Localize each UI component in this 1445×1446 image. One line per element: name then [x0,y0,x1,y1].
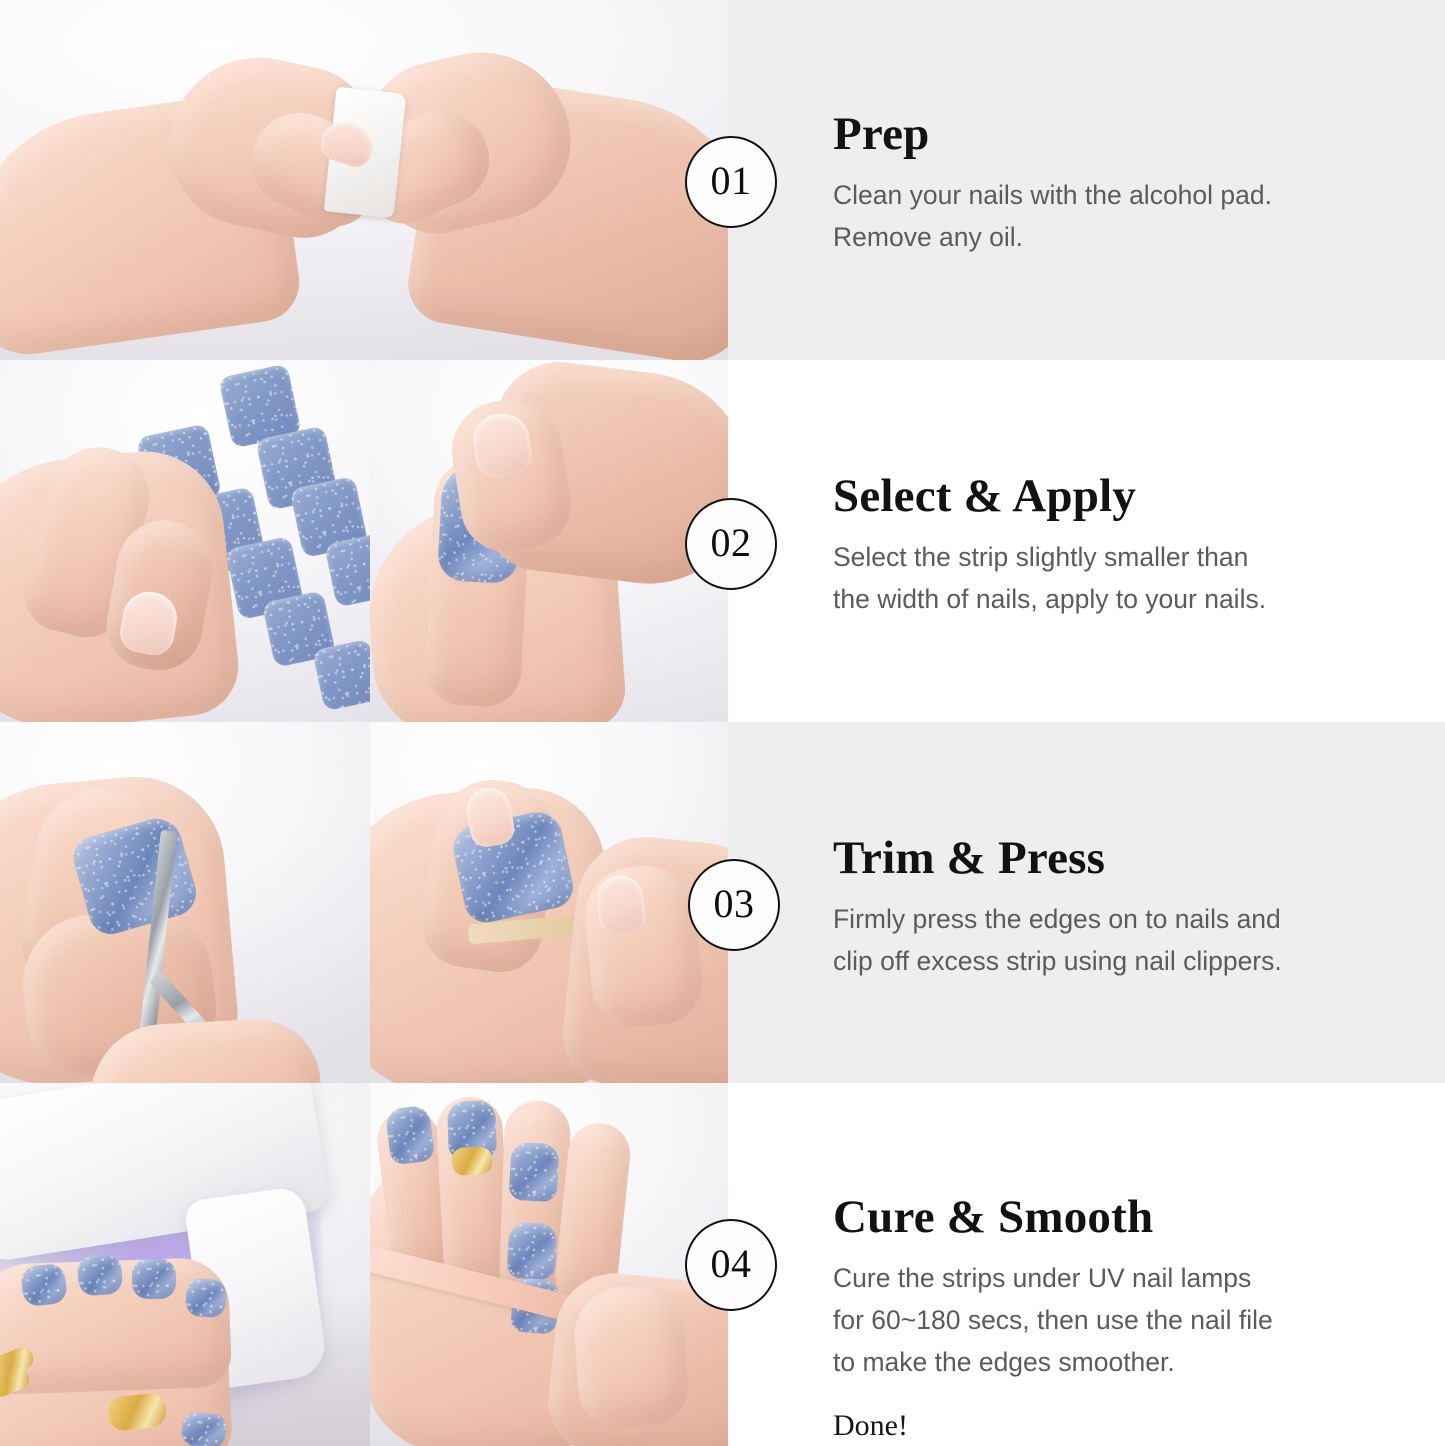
step-body-04: Cure the strips under UV nail lamps for … [833,1257,1273,1383]
step-body-02: Select the strip slightly smaller than t… [833,536,1266,620]
step-04-text: Cure & Smooth Cure the strips under UV n… [833,1193,1273,1442]
step-number-01: 01 [711,161,752,201]
step-badge-01: 01 [685,136,777,228]
photo-apply-strip [370,360,728,722]
photo-uv-lamp-curing [0,1083,370,1446]
step-number-04: 04 [711,1244,752,1284]
step-badge-02: 02 [685,498,777,590]
step-03-photo-column [0,722,728,1083]
finished-nail [507,1222,558,1280]
finished-nail [385,1105,435,1166]
cured-nail [132,1259,176,1299]
step-title-03: Trim & Press [833,834,1282,884]
step-row-02: 02 Select & Apply Select the strip sligh… [0,360,1445,722]
step-title-01: Prep [833,110,1272,160]
step-03-text: Trim & Press Firmly press the edges on t… [833,834,1282,982]
step-number-03: 03 [714,884,755,924]
step-row-03: 03 Trim & Press Firmly press the edges o… [0,722,1445,1083]
step-number-02: 02 [711,523,752,563]
step-02-text: Select & Apply Select the strip slightly… [833,472,1266,620]
step-02-text-column: 02 Select & Apply Select the strip sligh… [728,360,1445,722]
photo-prep-alcohol-pad [0,0,728,360]
step-row-01: 01 Prep Clean your nails with the alcoho… [0,0,1445,360]
step-badge-04: 04 [685,1219,777,1311]
step-badge-03: 03 [688,859,780,951]
instruction-infographic: 01 Prep Clean your nails with the alcoho… [0,0,1445,1446]
step-02-photo-column [0,360,728,722]
step-footnote-done: Done! [833,1409,1273,1442]
photo-trim-with-scissors [0,722,370,1083]
step-01-text-column: 01 Prep Clean your nails with the alcoho… [728,0,1445,360]
step-01-photo-column [0,0,728,360]
right-fingers [571,1283,690,1430]
cured-nail [77,1254,124,1297]
step-body-01: Clean your nails with the alcohol pad. R… [833,174,1272,258]
step-04-text-column: 04 Cure & Smooth Cure the strips under U… [728,1083,1445,1446]
photo-strip-sheet [0,360,370,722]
step-title-02: Select & Apply [833,472,1266,522]
step-row-04: 04 Cure & Smooth Cure the strips under U… [0,1083,1445,1446]
photo-file-smoothing [370,1083,728,1446]
finished-nail [509,1142,560,1202]
photo-press-with-stick [370,722,728,1083]
step-03-text-column: 03 Trim & Press Firmly press the edges o… [728,722,1445,1083]
cured-nail [20,1263,68,1307]
step-body-03: Firmly press the edges on to nails and c… [833,898,1282,982]
cured-nail [185,1278,228,1319]
step-01-text: Prep Clean your nails with the alcohol p… [833,110,1272,258]
cured-nail [180,1411,227,1446]
step-title-04: Cure & Smooth [833,1193,1273,1243]
step-04-photo-column [0,1083,728,1446]
gold-ring [451,1146,492,1176]
